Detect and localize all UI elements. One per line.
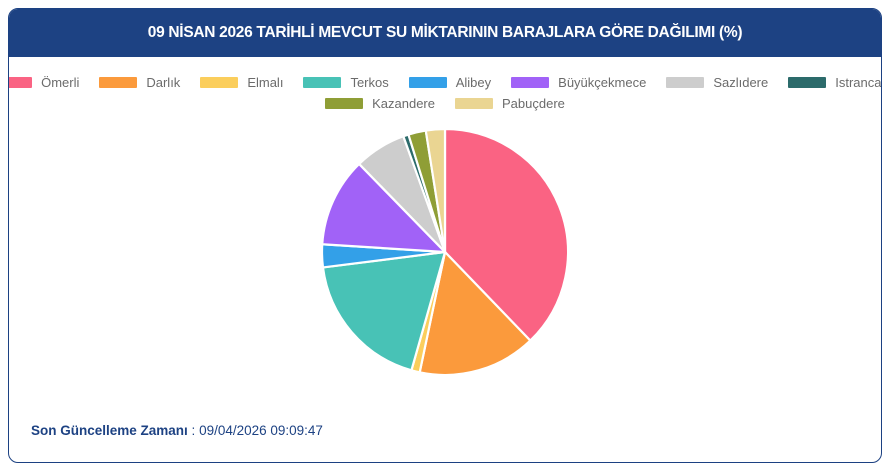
last-update-value: 09/04/2026 09:09:47	[199, 423, 323, 438]
legend-swatch-icon	[99, 77, 137, 88]
legend-swatch-icon	[455, 98, 493, 109]
legend-item-label: Büyükçekmece	[558, 75, 646, 90]
legend-item-elmalı[interactable]: Elmalı	[200, 75, 283, 90]
chart-card: 09 NİSAN 2026 TARİHLİ MEVCUT SU MİKTARIN…	[8, 8, 882, 463]
legend-item-terkos[interactable]: Terkos	[303, 75, 388, 90]
legend-item-büyükçekmece[interactable]: Büyükçekmece	[511, 75, 646, 90]
last-update-separator: :	[188, 423, 199, 438]
legend-swatch-icon	[303, 77, 341, 88]
pie-chart	[315, 127, 575, 377]
legend-item-label: Pabuçdere	[502, 96, 565, 111]
page-title: 09 NİSAN 2026 TARİHLİ MEVCUT SU MİKTARIN…	[148, 24, 742, 42]
legend-item-ömerli[interactable]: Ömerli	[8, 75, 79, 90]
legend-swatch-icon	[325, 98, 363, 109]
legend-row-1: ÖmerliDarlıkElmalıTerkosAlibeyBüyükçekme…	[8, 75, 882, 90]
page-root: 09 NİSAN 2026 TARİHLİ MEVCUT SU MİKTARIN…	[0, 0, 890, 469]
legend-swatch-icon	[8, 77, 32, 88]
legend-swatch-icon	[200, 77, 238, 88]
legend-item-sazlıdere[interactable]: Sazlıdere	[666, 75, 768, 90]
legend-swatch-icon	[788, 77, 826, 88]
legend-item-label: Kazandere	[372, 96, 435, 111]
last-update-footer: Son Güncelleme Zamanı : 09/04/2026 09:09…	[31, 423, 323, 438]
legend-item-label: Darlık	[146, 75, 180, 90]
legend-item-pabuçdere[interactable]: Pabuçdere	[455, 96, 565, 111]
legend-swatch-icon	[666, 77, 704, 88]
legend-item-label: Istrancalar	[835, 75, 882, 90]
legend-item-alibey[interactable]: Alibey	[409, 75, 491, 90]
legend-item-label: Elmalı	[247, 75, 283, 90]
legend-item-istrancalar[interactable]: Istrancalar	[788, 75, 882, 90]
legend-item-label: Alibey	[456, 75, 491, 90]
legend-swatch-icon	[409, 77, 447, 88]
legend-item-darlık[interactable]: Darlık	[99, 75, 180, 90]
legend-swatch-icon	[511, 77, 549, 88]
legend-item-label: Sazlıdere	[713, 75, 768, 90]
pie-chart-container	[9, 127, 881, 392]
legend-item-label: Terkos	[350, 75, 388, 90]
legend-item-kazandere[interactable]: Kazandere	[325, 96, 435, 111]
last-update-label: Son Güncelleme Zamanı	[31, 423, 188, 438]
chart-legend: ÖmerliDarlıkElmalıTerkosAlibeyBüyükçekme…	[9, 75, 881, 111]
legend-item-label: Ömerli	[41, 75, 79, 90]
chart-title-bar: 09 NİSAN 2026 TARİHLİ MEVCUT SU MİKTARIN…	[9, 9, 881, 57]
legend-row-2: KazanderePabuçdere	[315, 96, 575, 111]
